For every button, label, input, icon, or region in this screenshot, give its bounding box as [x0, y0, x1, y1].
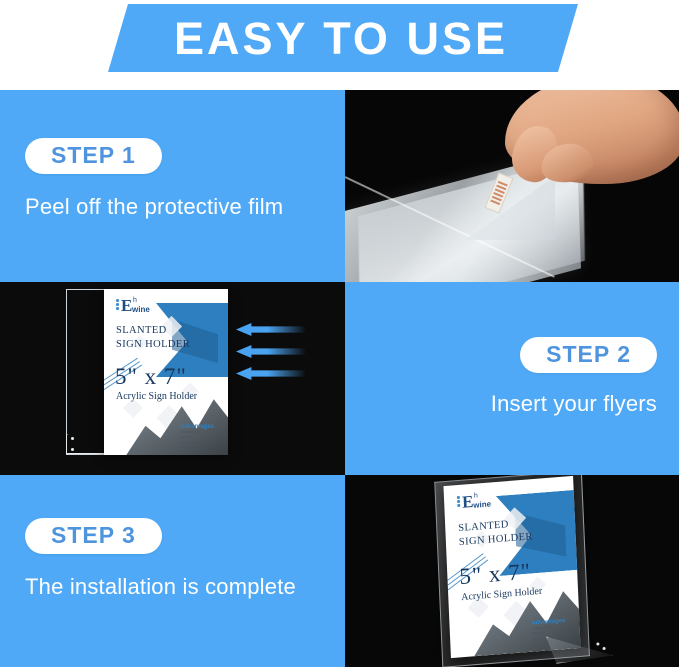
flyer-title-line-2: SIGN HOLDER: [116, 338, 190, 352]
infographic-page: EASY TO USE STEP 1 Peel off the protecti…: [0, 0, 679, 667]
step-1-description: Peel off the protective film: [25, 194, 283, 220]
header-area: EASY TO USE: [0, 0, 679, 90]
flyer-advantages: Advantages Crystal clear Smooth High str…: [180, 424, 224, 451]
panel-step-1-text: STEP 1 Peel off the protective film: [0, 90, 345, 282]
foot-screw-dot: [596, 642, 599, 645]
flyer-size: 5" x 7": [459, 560, 532, 589]
foot-screw-dot: [603, 647, 606, 650]
flyer-advantages-heading: Advantages: [180, 424, 224, 431]
step-2-badge: STEP 2: [520, 337, 657, 373]
logo-word-wine: wine: [132, 306, 150, 314]
arrow-left-icon: [236, 323, 306, 336]
logo-letter-e: E: [462, 493, 474, 511]
step-3-description: The installation is complete: [25, 574, 296, 600]
insert-flyer-photo: E h wine SLANTED SIGN HOLDER 5" x 7" Acr…: [0, 282, 345, 475]
steps-grid: STEP 1 Peel off the protective film: [0, 90, 679, 667]
panel-step-3-text: STEP 3 The installation is complete: [0, 475, 345, 667]
logo-letter-e: E: [121, 297, 132, 314]
panel-step-2-text: STEP 2 Insert your flyers: [345, 282, 679, 475]
flyer-size: 5" x 7": [115, 365, 187, 388]
step-3-badge: STEP 3: [25, 518, 162, 554]
flyer-artwork: E h wine SLANTED SIGN HOLDER 5" x 7" Acr…: [104, 289, 228, 455]
peel-film-photo: [345, 90, 679, 282]
sign-holder-assembly: E h wine SLANTED SIGN HOLDER 5" x 7" Acr…: [443, 476, 580, 658]
logo-superscript-h: h: [474, 492, 478, 499]
arrow-left-icon: [236, 345, 306, 358]
flyer-title: SLANTED SIGN HOLDER: [116, 324, 190, 352]
brand-logo: E h wine: [115, 297, 173, 317]
header-banner: EASY TO USE: [108, 4, 578, 72]
flyer-artwork: E h wine SLANTED SIGN HOLDER 5" x 7" Acr…: [443, 476, 580, 658]
page-title: EASY TO USE: [108, 4, 578, 72]
insert-direction-arrows: [236, 323, 316, 383]
step-3-block: STEP 3 The installation is complete: [25, 518, 296, 600]
flyer-advantage-item: Please falling: [180, 446, 224, 451]
step-1-block: STEP 1 Peel off the protective film: [25, 138, 283, 220]
base-screw-dot: [71, 448, 74, 451]
brand-logo: E h wine: [456, 490, 515, 515]
logo-word-wine: wine: [473, 500, 491, 509]
step-2-description: Insert your flyers: [491, 391, 657, 417]
panel-insert-photo: E h wine SLANTED SIGN HOLDER 5" x 7" Acr…: [0, 282, 345, 475]
arrow-left-icon: [236, 367, 306, 380]
flyer-title: SLANTED SIGN HOLDER: [458, 516, 533, 550]
panel-peel-photo: [345, 90, 679, 282]
logo-superscript-h: h: [133, 297, 137, 304]
base-screw-dot: [71, 437, 74, 440]
flyer-subtitle: Acrylic Sign Holder: [116, 392, 197, 402]
flyer-title-line-1: SLANTED: [116, 324, 190, 338]
finished-holder-photo: E h wine SLANTED SIGN HOLDER 5" x 7" Acr…: [345, 475, 679, 667]
step-1-badge: STEP 1: [25, 138, 162, 174]
step-2-block: STEP 2 Insert your flyers: [491, 337, 657, 417]
panel-finished-photo: E h wine SLANTED SIGN HOLDER 5" x 7" Acr…: [345, 475, 679, 667]
